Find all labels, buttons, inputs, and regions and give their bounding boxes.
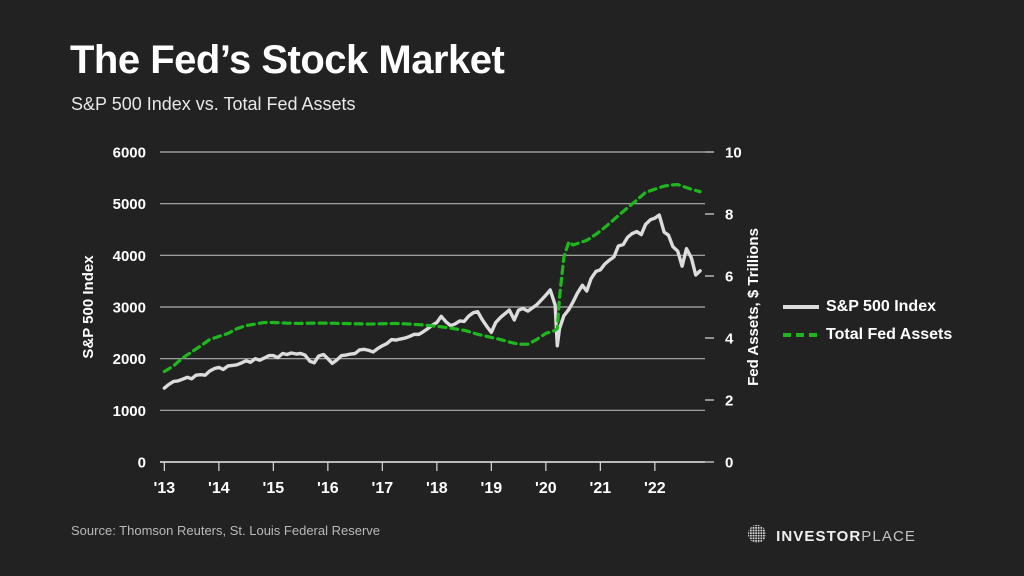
svg-text:4000: 4000 [113,248,146,265]
svg-text:6: 6 [725,269,733,286]
legend-label-sp500: S&P 500 Index [826,298,936,316]
brand-text-primary: INVESTOR [776,528,861,545]
svg-text:'14: '14 [208,480,230,497]
brand-logo: INVESTORPLACE [747,524,916,549]
brand-text-secondary: PLACE [861,528,916,545]
svg-text:'16: '16 [317,480,339,497]
svg-text:'18: '18 [426,480,448,497]
legend-item-fed[interactable]: Total Fed Assets [782,321,952,349]
svg-text:8: 8 [725,207,733,224]
chart-screen: The Fed’s Stock Market S&P 500 Index vs.… [0,0,1024,576]
gridlines [160,152,705,462]
svg-text:6000: 6000 [113,145,146,162]
source-note: Source: Thomson Reuters, St. Louis Feder… [71,523,380,538]
legend-swatch-sp500 [782,300,820,314]
left-axis-title: S&P 500 Index [80,255,97,359]
legend-swatch-fed [782,328,820,342]
right-axis: 0246810 [705,145,742,472]
left-axis: 0100020003000400050006000 [113,145,146,472]
svg-text:0: 0 [138,455,146,472]
svg-text:1000: 1000 [113,403,146,420]
svg-text:'21: '21 [590,480,612,497]
globe-icon [747,524,767,549]
legend-label-fed: Total Fed Assets [826,326,952,344]
svg-text:2000: 2000 [113,351,146,368]
series-lines [164,185,700,389]
svg-text:3000: 3000 [113,300,146,317]
x-axis: '13'14'15'16'17'18'19'20'21'22 [154,462,705,497]
svg-text:'20: '20 [535,480,557,497]
svg-text:10: 10 [725,145,742,162]
chart-plot-area: 0100020003000400050006000 0246810 '13'14… [0,0,1024,576]
chart-legend: S&P 500 Index Total Fed Assets [782,293,952,349]
svg-text:4: 4 [725,331,734,348]
svg-text:'19: '19 [481,480,503,497]
svg-text:'17: '17 [372,480,394,497]
svg-text:'13: '13 [154,480,176,497]
svg-text:5000: 5000 [113,196,146,213]
legend-item-sp500[interactable]: S&P 500 Index [782,293,952,321]
brand-text: INVESTORPLACE [776,528,916,545]
svg-text:'22: '22 [644,480,666,497]
right-axis-title: Fed Assets, $ Trillions [745,228,762,386]
svg-text:'15: '15 [263,480,285,497]
svg-text:2: 2 [725,393,733,410]
svg-text:0: 0 [725,455,733,472]
chart-svg: 0100020003000400050006000 0246810 '13'14… [0,0,1024,576]
